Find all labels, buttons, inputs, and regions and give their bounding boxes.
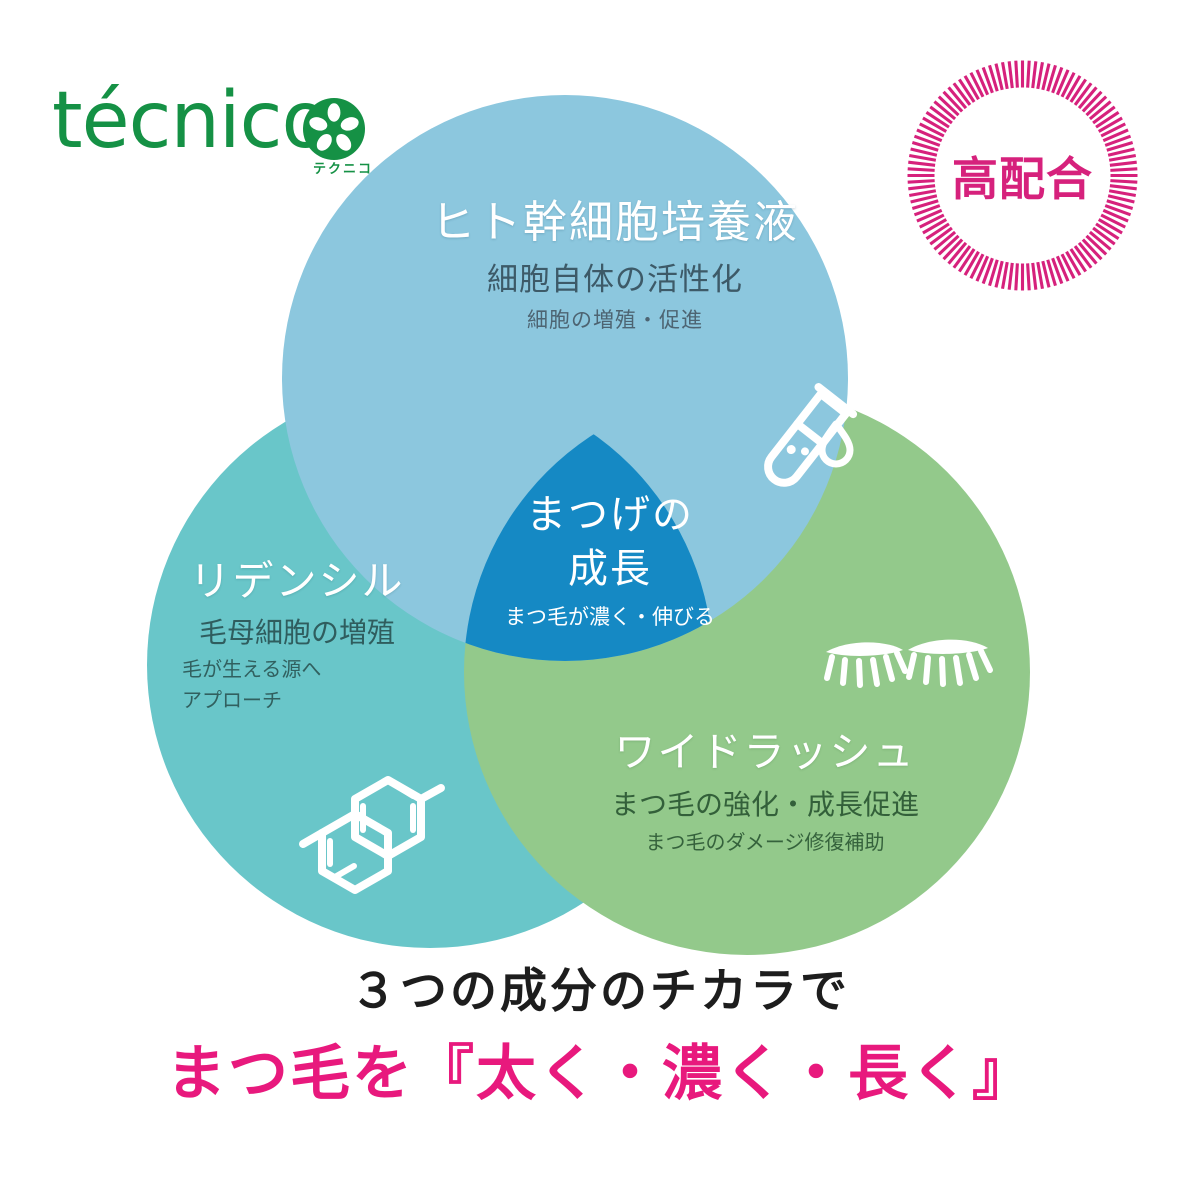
- flower-icon: [303, 98, 365, 160]
- brand-kana-subtitle: テクニコ: [305, 158, 381, 177]
- tagline-line-1: ３つの成分のチカラで: [0, 960, 1200, 1024]
- status-badge: 高配合: [905, 58, 1140, 293]
- poster-canvas: técnico テクニコ 高配合 ヒト幹細胞培養液 細胞自体の活性化 細胞の増殖…: [0, 0, 1200, 1200]
- venn-center-title-line1: まつげの: [465, 488, 755, 542]
- tagline-line-2: まつ毛を『太く・濃く・長く』: [0, 1032, 1200, 1116]
- brand-logo[interactable]: técnico テクニコ: [52, 88, 382, 183]
- venn-left-detail-line1: 毛が生える源へ: [172, 654, 422, 685]
- venn-right-title: ワイドラッシュ: [575, 726, 955, 778]
- venn-center-title-line2: 成長: [465, 542, 755, 596]
- venn-label-top: ヒト幹細胞培養液 細胞自体の活性化 細胞の増殖・促進: [380, 196, 850, 336]
- venn-label-center: まつげの 成長 まつ毛が濃く・伸びる: [465, 488, 755, 634]
- venn-right-detail: まつ毛のダメージ修復補助: [575, 826, 955, 858]
- venn-top-title: ヒト幹細胞培養液: [380, 196, 850, 250]
- venn-right-subtitle: まつ毛の強化・成長促進: [575, 784, 955, 826]
- venn-left-title: リデンシル: [172, 556, 422, 606]
- tagline: ３つの成分のチカラで まつ毛を『太く・濃く・長く』: [0, 960, 1200, 1116]
- venn-top-subtitle: 細胞自体の活性化: [380, 256, 850, 304]
- venn-center-detail: まつ毛が濃く・伸びる: [465, 600, 755, 634]
- status-badge-label: 高配合: [905, 58, 1140, 293]
- venn-left-detail-line2: アプローチ: [172, 685, 422, 716]
- venn-label-left: リデンシル 毛母細胞の増殖 毛が生える源へ アプローチ: [172, 556, 422, 716]
- brand-wordmark: técnico: [52, 82, 328, 160]
- venn-top-detail: 細胞の増殖・促進: [380, 304, 850, 336]
- venn-left-subtitle: 毛母細胞の増殖: [172, 612, 422, 654]
- venn-label-right: ワイドラッシュ まつ毛の強化・成長促進 まつ毛のダメージ修復補助: [575, 726, 955, 858]
